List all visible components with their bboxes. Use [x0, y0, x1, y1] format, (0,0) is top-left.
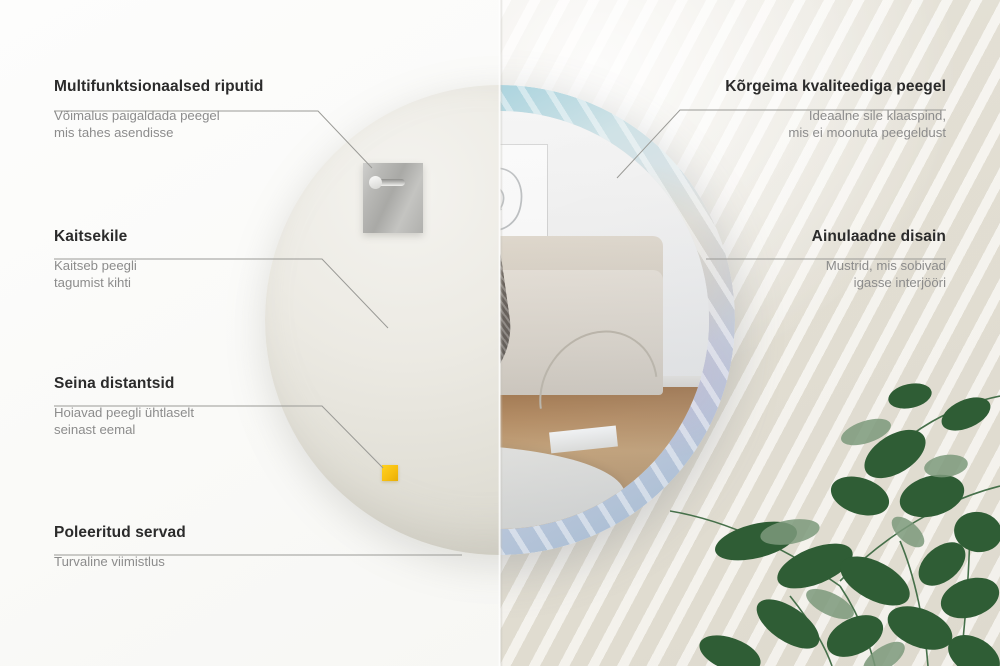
callout-desc-line2: seinast eemal — [54, 422, 135, 437]
poster-face-line-icon — [500, 145, 547, 254]
callout-desc: Ideaalne sile klaaspind, mis ei moonuta … — [725, 107, 946, 142]
callout-poleeritud-servad: Poleeritud servad Turvaline viimistlus — [54, 524, 186, 570]
hanger-plate-icon — [363, 163, 423, 233]
foliage-leaves-icon — [670, 336, 1000, 666]
callout-desc-line1: Turvaline viimistlus — [54, 554, 165, 569]
callout-title: Poleeritud servad — [54, 524, 186, 542]
callout-title: Kaitsekile — [54, 228, 137, 246]
callout-title: Multifunktsionaalsed riputid — [54, 78, 263, 96]
callout-desc: Võimalus paigaldada peegel mis tahes ase… — [54, 107, 263, 142]
callout-desc-line1: Võimalus paigaldada peegel — [54, 108, 220, 123]
callout-seina-distantsid: Seina distantsid Hoiavad peegli ühtlasel… — [54, 375, 194, 439]
wall-spacer-icon — [382, 465, 398, 481]
hanger-keyhole-slot — [375, 179, 405, 186]
callout-kaitsekile: Kaitsekile Kaitseb peegli tagumist kihti — [54, 228, 137, 292]
callout-desc-line2: mis tahes asendisse — [54, 125, 173, 140]
photo-split-seam — [498, 0, 503, 666]
callout-multifunktsionaalsed-riputid: Multifunktsionaalsed riputid Võimalus pa… — [54, 78, 263, 142]
callout-desc: Kaitseb peegli tagumist kihti — [54, 257, 137, 292]
reflected-knit-throw — [500, 207, 520, 416]
foliage-leaf-cluster-dark — [694, 380, 1000, 666]
callout-desc-line1: Ideaalne sile klaaspind, — [809, 108, 946, 123]
callout-korgeima-kvaliteediga-peegel: Kõrgeima kvaliteediga peegel Ideaalne si… — [725, 78, 946, 142]
reflected-open-book — [549, 425, 618, 453]
callout-title: Ainulaadne disain — [812, 228, 946, 246]
reflected-sofa-back — [500, 236, 663, 303]
callout-desc-line2: tagumist kihti — [54, 275, 131, 290]
callout-desc: Turvaline viimistlus — [54, 553, 186, 570]
callout-desc-line1: Mustrid, mis sobivad — [826, 258, 946, 273]
callout-desc-line1: Kaitseb peegli — [54, 258, 137, 273]
reflected-arc-lamp — [515, 308, 682, 479]
callout-title: Seina distantsid — [54, 375, 194, 393]
callout-desc-line1: Hoiavad peegli ühtlaselt — [54, 405, 194, 420]
callout-ainulaadne-disain: Ainulaadne disain Mustrid, mis sobivad i… — [812, 228, 946, 292]
foliage-decoration — [670, 336, 1000, 666]
callout-title: Kõrgeima kvaliteediga peegel — [725, 78, 946, 96]
infographic-stage: Multifunktsionaalsed riputid Võimalus pa… — [0, 0, 1000, 666]
foliage-stems — [670, 396, 1000, 666]
callout-desc: Mustrid, mis sobivad igasse interjööri — [812, 257, 946, 292]
callout-desc-line2: igasse interjööri — [854, 275, 946, 290]
mirror-back-disc — [265, 85, 500, 555]
callout-desc-line2: mis ei moonuta peegeldust — [788, 125, 946, 140]
reflected-rug — [500, 445, 625, 529]
reflected-sofa — [500, 270, 663, 395]
callout-desc: Hoiavad peegli ühtlaselt seinast eemal — [54, 404, 194, 439]
reflected-poster-line-art — [500, 144, 548, 255]
